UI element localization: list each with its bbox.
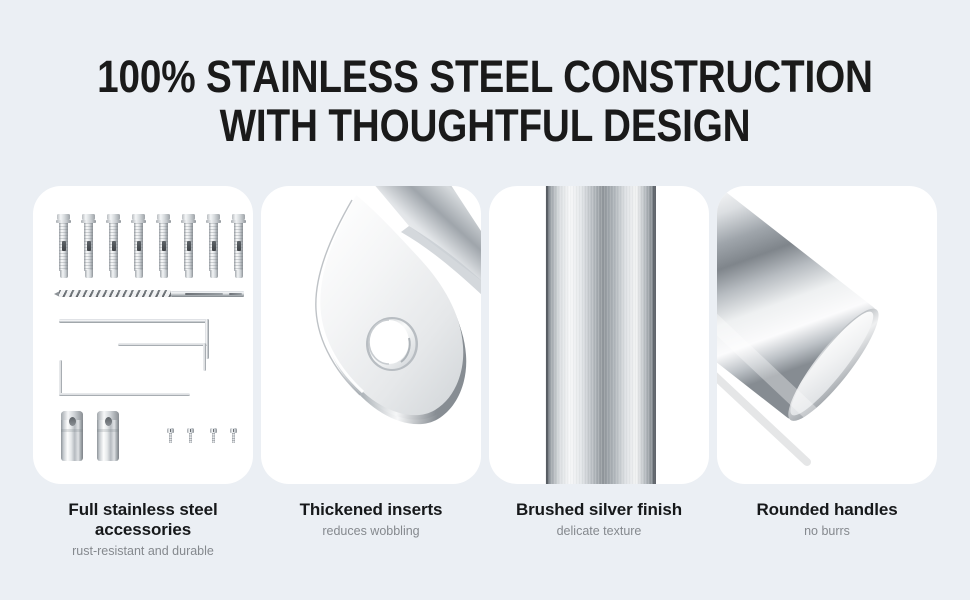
accessories-layout (33, 186, 253, 484)
caption-title: Full stainless steel accessories (39, 500, 247, 540)
connector-hole (105, 417, 112, 426)
feature-caption-row: Full stainless steel accessories rust-re… (33, 500, 937, 559)
flange-illustration (261, 186, 481, 484)
screw-shaft (189, 433, 193, 443)
feature-card-brushed-finish (489, 186, 709, 484)
caption-title-line-2: accessories (95, 520, 191, 539)
feature-card-rounded-handles (717, 186, 937, 484)
caption-brushed-finish: Brushed silver finish delicate texture (489, 500, 709, 559)
screw-shaft (169, 433, 173, 443)
screw-slot (190, 429, 191, 432)
bolt-tip (185, 270, 193, 278)
tube-right-edge (653, 186, 656, 484)
hex-key-short-arm (203, 343, 206, 371)
hex-key-short-arm (59, 360, 62, 396)
drill-bit-groove (229, 293, 242, 295)
rod-end-illustration (717, 186, 937, 484)
hex-key-long-arm (59, 319, 209, 323)
thickened-insert-photo (261, 186, 481, 484)
caption-title: Rounded handles (723, 500, 931, 520)
screw-slot (213, 429, 214, 432)
expansion-bolt (109, 214, 118, 278)
expansion-bolt (234, 214, 243, 278)
bolt-tip (110, 270, 118, 278)
caption-subtitle: rust-resistant and durable (39, 544, 247, 559)
page-title: 100% STAINLESS STEEL CONSTRUCTION WITH T… (68, 52, 902, 150)
expansion-bolt (84, 214, 93, 278)
caption-rounded-handles: Rounded handles no burrs (717, 500, 937, 559)
tube-connector (61, 411, 83, 461)
product-feature-banner: 100% STAINLESS STEEL CONSTRUCTION WITH T… (0, 0, 970, 600)
brushed-tube-illustration (489, 186, 709, 484)
caption-subtitle: delicate texture (495, 524, 703, 539)
hex-key-small (59, 360, 194, 396)
bolt-notch (62, 241, 66, 251)
feature-card-thickened-inserts (261, 186, 481, 484)
bolt-tip (160, 270, 168, 278)
bolt-tip (85, 270, 93, 278)
bolt-notch (137, 241, 141, 251)
headline-line-1: 100% STAINLESS STEEL CONSTRUCTION (68, 52, 902, 101)
hex-key-long-arm (118, 343, 207, 346)
set-screw (210, 428, 217, 443)
bolt-notch (212, 241, 216, 251)
bolt-tip (210, 270, 218, 278)
screw-slot (233, 429, 234, 432)
brushed-tube-photo (489, 186, 709, 484)
set-screw (167, 428, 174, 443)
bolt-notch (237, 241, 241, 251)
rounded-handle-photo (717, 186, 937, 484)
caption-title: Brushed silver finish (495, 500, 703, 520)
accessories-photo (33, 186, 253, 484)
caption-subtitle: reduces wobbling (267, 524, 475, 539)
caption-subtitle: no burrs (723, 524, 931, 539)
expansion-bolt (184, 214, 193, 278)
expansion-bolt (209, 214, 218, 278)
bolt-notch (87, 241, 91, 251)
tube-connector (97, 411, 119, 461)
set-screw (187, 428, 194, 443)
connector-waist (97, 429, 119, 432)
drill-bit-flutes (59, 290, 171, 297)
bolt-notch (187, 241, 191, 251)
drill-bit-groove (185, 293, 223, 295)
screw-slot (170, 429, 171, 432)
feature-card-accessories (33, 186, 253, 484)
set-screw (230, 428, 237, 443)
bolt-notch (112, 241, 116, 251)
caption-title-line-1: Full stainless steel (68, 500, 217, 519)
bolt-tip (135, 270, 143, 278)
tube-left-edge (546, 186, 548, 484)
bolt-tip (60, 270, 68, 278)
caption-thickened-inserts: Thickened inserts reduces wobbling (261, 500, 481, 559)
expansion-bolt (134, 214, 143, 278)
connector-hole (69, 417, 76, 426)
masonry-drill-bit (59, 289, 244, 298)
bolt-tip (235, 270, 243, 278)
headline-line-2: WITH THOUGHTFUL DESIGN (68, 101, 902, 150)
bolt-notch (162, 241, 166, 251)
rod-body (717, 186, 878, 421)
feature-card-row (33, 186, 937, 484)
screw-shaft (212, 433, 216, 443)
brushed-texture (546, 186, 656, 484)
expansion-bolt (159, 214, 168, 278)
caption-accessories: Full stainless steel accessories rust-re… (33, 500, 253, 559)
expansion-bolt (59, 214, 68, 278)
screw-shaft (232, 433, 236, 443)
hex-key-long-arm (59, 393, 190, 396)
caption-title: Thickened inserts (267, 500, 475, 520)
connector-waist (61, 429, 83, 432)
